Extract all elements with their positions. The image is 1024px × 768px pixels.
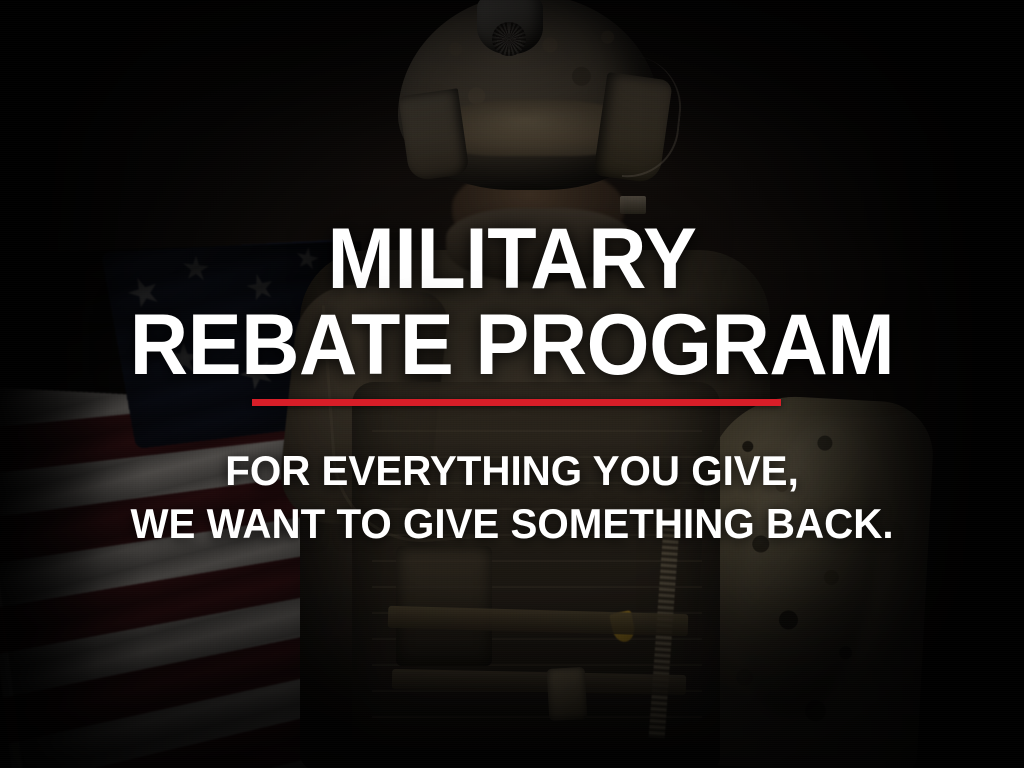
headline-line-2: REBATE PROGRAM	[31, 304, 994, 387]
military-rebate-poster: MILITARY REBATE PROGRAM FOR EVERYTHING Y…	[0, 0, 1024, 768]
headline-line-1: MILITARY	[31, 218, 994, 301]
poster-text-overlay: MILITARY REBATE PROGRAM FOR EVERYTHING Y…	[0, 0, 1024, 768]
subtitle-line-1: FOR EVERYTHING YOU GIVE,	[20, 444, 1003, 498]
red-divider-rule	[252, 399, 781, 406]
subtitle-line-2: WE WANT TO GIVE SOMETHING BACK.	[20, 497, 1003, 551]
